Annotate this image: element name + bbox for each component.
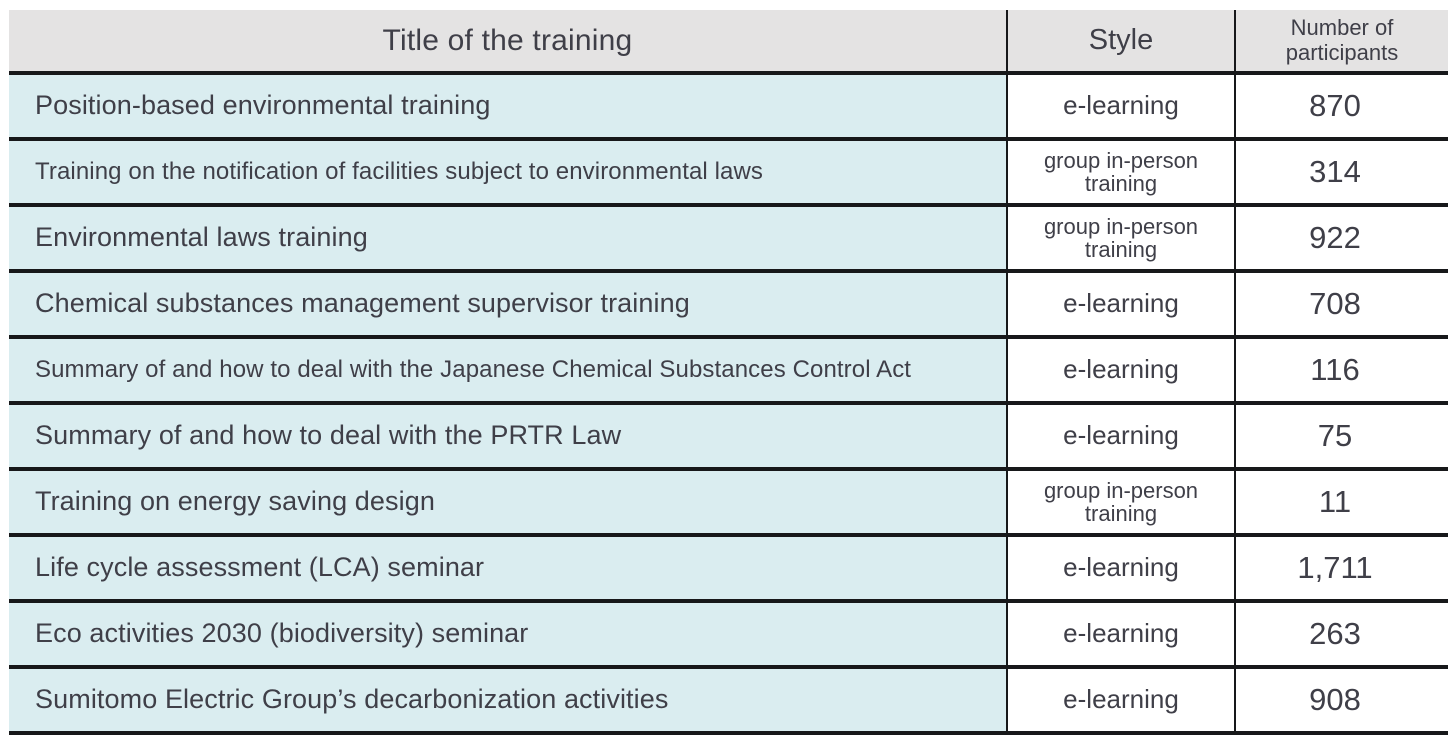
cell-participant-count: 708 <box>1235 271 1448 337</box>
cell-training-style: e-learning <box>1007 73 1235 139</box>
cell-training-style: e-learning <box>1007 403 1235 469</box>
table-header: Title of the training Style Number of pa… <box>9 10 1448 73</box>
table-row: Chemical substances management superviso… <box>9 271 1448 337</box>
table-row: Position-based environmental traininge-l… <box>9 73 1448 139</box>
cell-training-style: e-learning <box>1007 601 1235 667</box>
cell-participant-count: 75 <box>1235 403 1448 469</box>
cell-training-title: Summary of and how to deal with the PRTR… <box>9 403 1007 469</box>
cell-training-style: group in-person training <box>1007 469 1235 535</box>
cell-training-title: Training on the notification of faciliti… <box>9 139 1007 205</box>
cell-participant-count: 1,711 <box>1235 535 1448 601</box>
cell-training-style: group in-person training <box>1007 139 1235 205</box>
cell-training-title: Training on energy saving design <box>9 469 1007 535</box>
cell-participant-count: 116 <box>1235 337 1448 403</box>
table-row: Training on energy saving designgroup in… <box>9 469 1448 535</box>
cell-training-title: Chemical substances management superviso… <box>9 271 1007 337</box>
column-header-participants: Number of participants <box>1235 10 1448 73</box>
training-table: Title of the training Style Number of pa… <box>9 10 1448 735</box>
table-body: Position-based environmental traininge-l… <box>9 73 1448 733</box>
cell-training-style: e-learning <box>1007 271 1235 337</box>
cell-training-title: Sumitomo Electric Group’s decarbonizatio… <box>9 667 1007 733</box>
table-row: Environmental laws traininggroup in-pers… <box>9 205 1448 271</box>
cell-training-title: Position-based environmental training <box>9 73 1007 139</box>
cell-training-title: Eco activities 2030 (biodiversity) semin… <box>9 601 1007 667</box>
cell-training-style: e-learning <box>1007 667 1235 733</box>
cell-participant-count: 314 <box>1235 139 1448 205</box>
cell-training-style: group in-person training <box>1007 205 1235 271</box>
column-header-style: Style <box>1007 10 1235 73</box>
cell-training-title: Summary of and how to deal with the Japa… <box>9 337 1007 403</box>
table-row: Eco activities 2030 (biodiversity) semin… <box>9 601 1448 667</box>
cell-training-title: Environmental laws training <box>9 205 1007 271</box>
cell-training-style: e-learning <box>1007 337 1235 403</box>
cell-participant-count: 908 <box>1235 667 1448 733</box>
cell-participant-count: 870 <box>1235 73 1448 139</box>
table-row: Summary of and how to deal with the PRTR… <box>9 403 1448 469</box>
cell-participant-count: 263 <box>1235 601 1448 667</box>
table-row: Life cycle assessment (LCA) seminare-lea… <box>9 535 1448 601</box>
cell-participant-count: 922 <box>1235 205 1448 271</box>
table-row: Training on the notification of faciliti… <box>9 139 1448 205</box>
training-table-container: Title of the training Style Number of pa… <box>9 10 1448 741</box>
header-row: Title of the training Style Number of pa… <box>9 10 1448 73</box>
table-row: Sumitomo Electric Group’s decarbonizatio… <box>9 667 1448 733</box>
column-header-participants-line1: Number of <box>1236 16 1448 41</box>
cell-participant-count: 11 <box>1235 469 1448 535</box>
column-header-title: Title of the training <box>9 10 1007 73</box>
column-header-participants-line2: participants <box>1236 41 1448 66</box>
cell-training-style: e-learning <box>1007 535 1235 601</box>
cell-training-title: Life cycle assessment (LCA) seminar <box>9 535 1007 601</box>
table-row: Summary of and how to deal with the Japa… <box>9 337 1448 403</box>
